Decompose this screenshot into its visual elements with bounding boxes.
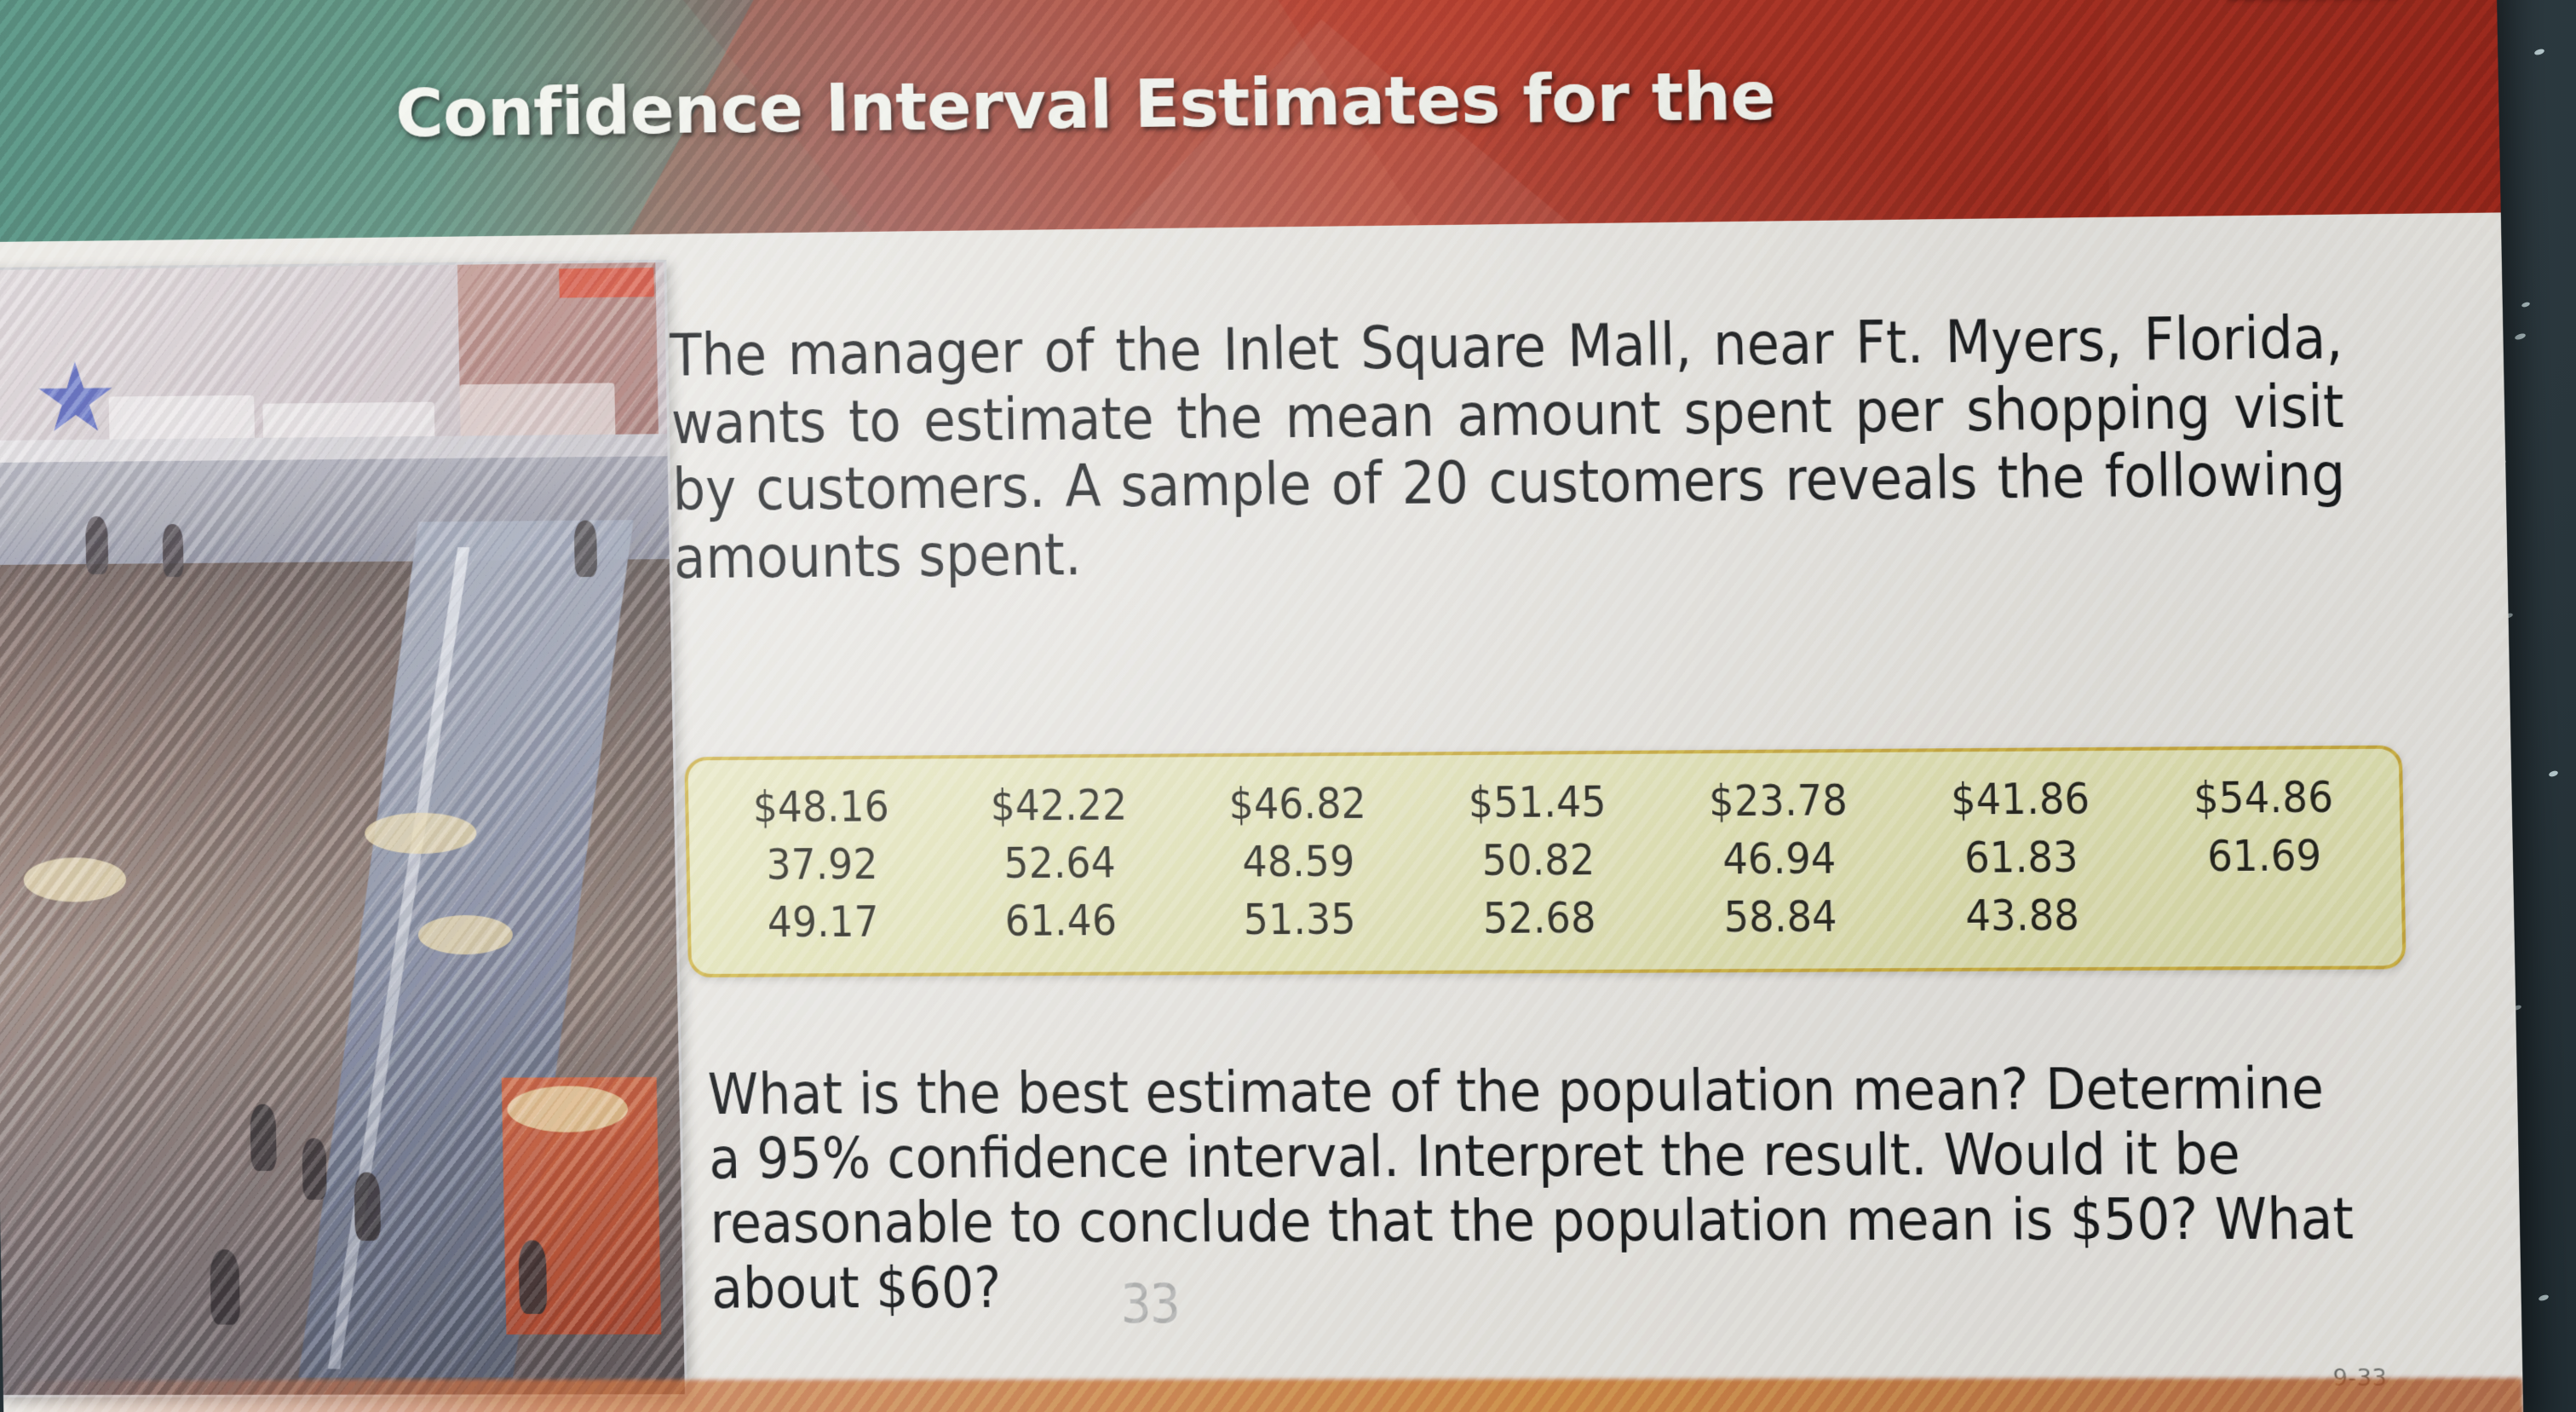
question-text: What is the best estimate of the populat… bbox=[707, 1056, 2368, 1321]
table-cell: 49.17 bbox=[706, 893, 941, 952]
page-title-line-1: Confidence Interval Estimates for the bbox=[0, 48, 2205, 161]
table-cell: $23.78 bbox=[1659, 771, 1898, 831]
page-title: Confidence Interval Estimates for the Me… bbox=[0, 0, 2211, 242]
table-cell: 61.83 bbox=[1901, 828, 2142, 888]
sample-data-table: $48.16 $42.22 $46.82 $51.45 $23.78 $41.8… bbox=[684, 746, 2406, 977]
table-cell: 52.64 bbox=[942, 833, 1178, 892]
table-cell: 43.88 bbox=[1902, 886, 2142, 946]
table-cell: 58.84 bbox=[1661, 887, 1900, 947]
table-cell: 61.46 bbox=[943, 891, 1179, 950]
page-title-line-2: Mean – Example bbox=[0, 220, 2209, 242]
mall-interior-photo bbox=[0, 260, 687, 1398]
table-cell: 61.69 bbox=[2144, 827, 2385, 886]
table-cell: 48.59 bbox=[1180, 833, 1417, 891]
table-cell: 37.92 bbox=[704, 835, 940, 894]
table-cell: $42.22 bbox=[941, 776, 1177, 835]
table-cell: 50.82 bbox=[1419, 831, 1657, 890]
slide-title-banner: Confidence Interval Estimates for the Me… bbox=[0, 0, 2501, 242]
table-cell: $54.86 bbox=[2142, 768, 2383, 827]
table-cell: 51.35 bbox=[1182, 890, 1418, 949]
table-cell: $51.45 bbox=[1418, 773, 1656, 833]
screen-bottom-reflection bbox=[3, 1378, 2524, 1412]
sample-data-grid: $48.16 $42.22 $46.82 $51.45 $23.78 $41.8… bbox=[704, 768, 2386, 951]
photo-screen-texture bbox=[0, 262, 685, 1395]
table-cell: $41.86 bbox=[1900, 769, 2141, 829]
table-cell: 46.94 bbox=[1660, 829, 1900, 889]
table-cell: $48.16 bbox=[704, 778, 939, 837]
table-cell: $46.82 bbox=[1179, 775, 1416, 834]
projected-slide-photo: Confidence Interval Estimates for the Me… bbox=[0, 0, 2576, 1412]
table-cell: 52.68 bbox=[1421, 889, 1659, 948]
presentation-slide: Confidence Interval Estimates for the Me… bbox=[0, 0, 2523, 1412]
problem-statement: The manager of the Inlet Square Mall, ne… bbox=[670, 304, 2348, 592]
